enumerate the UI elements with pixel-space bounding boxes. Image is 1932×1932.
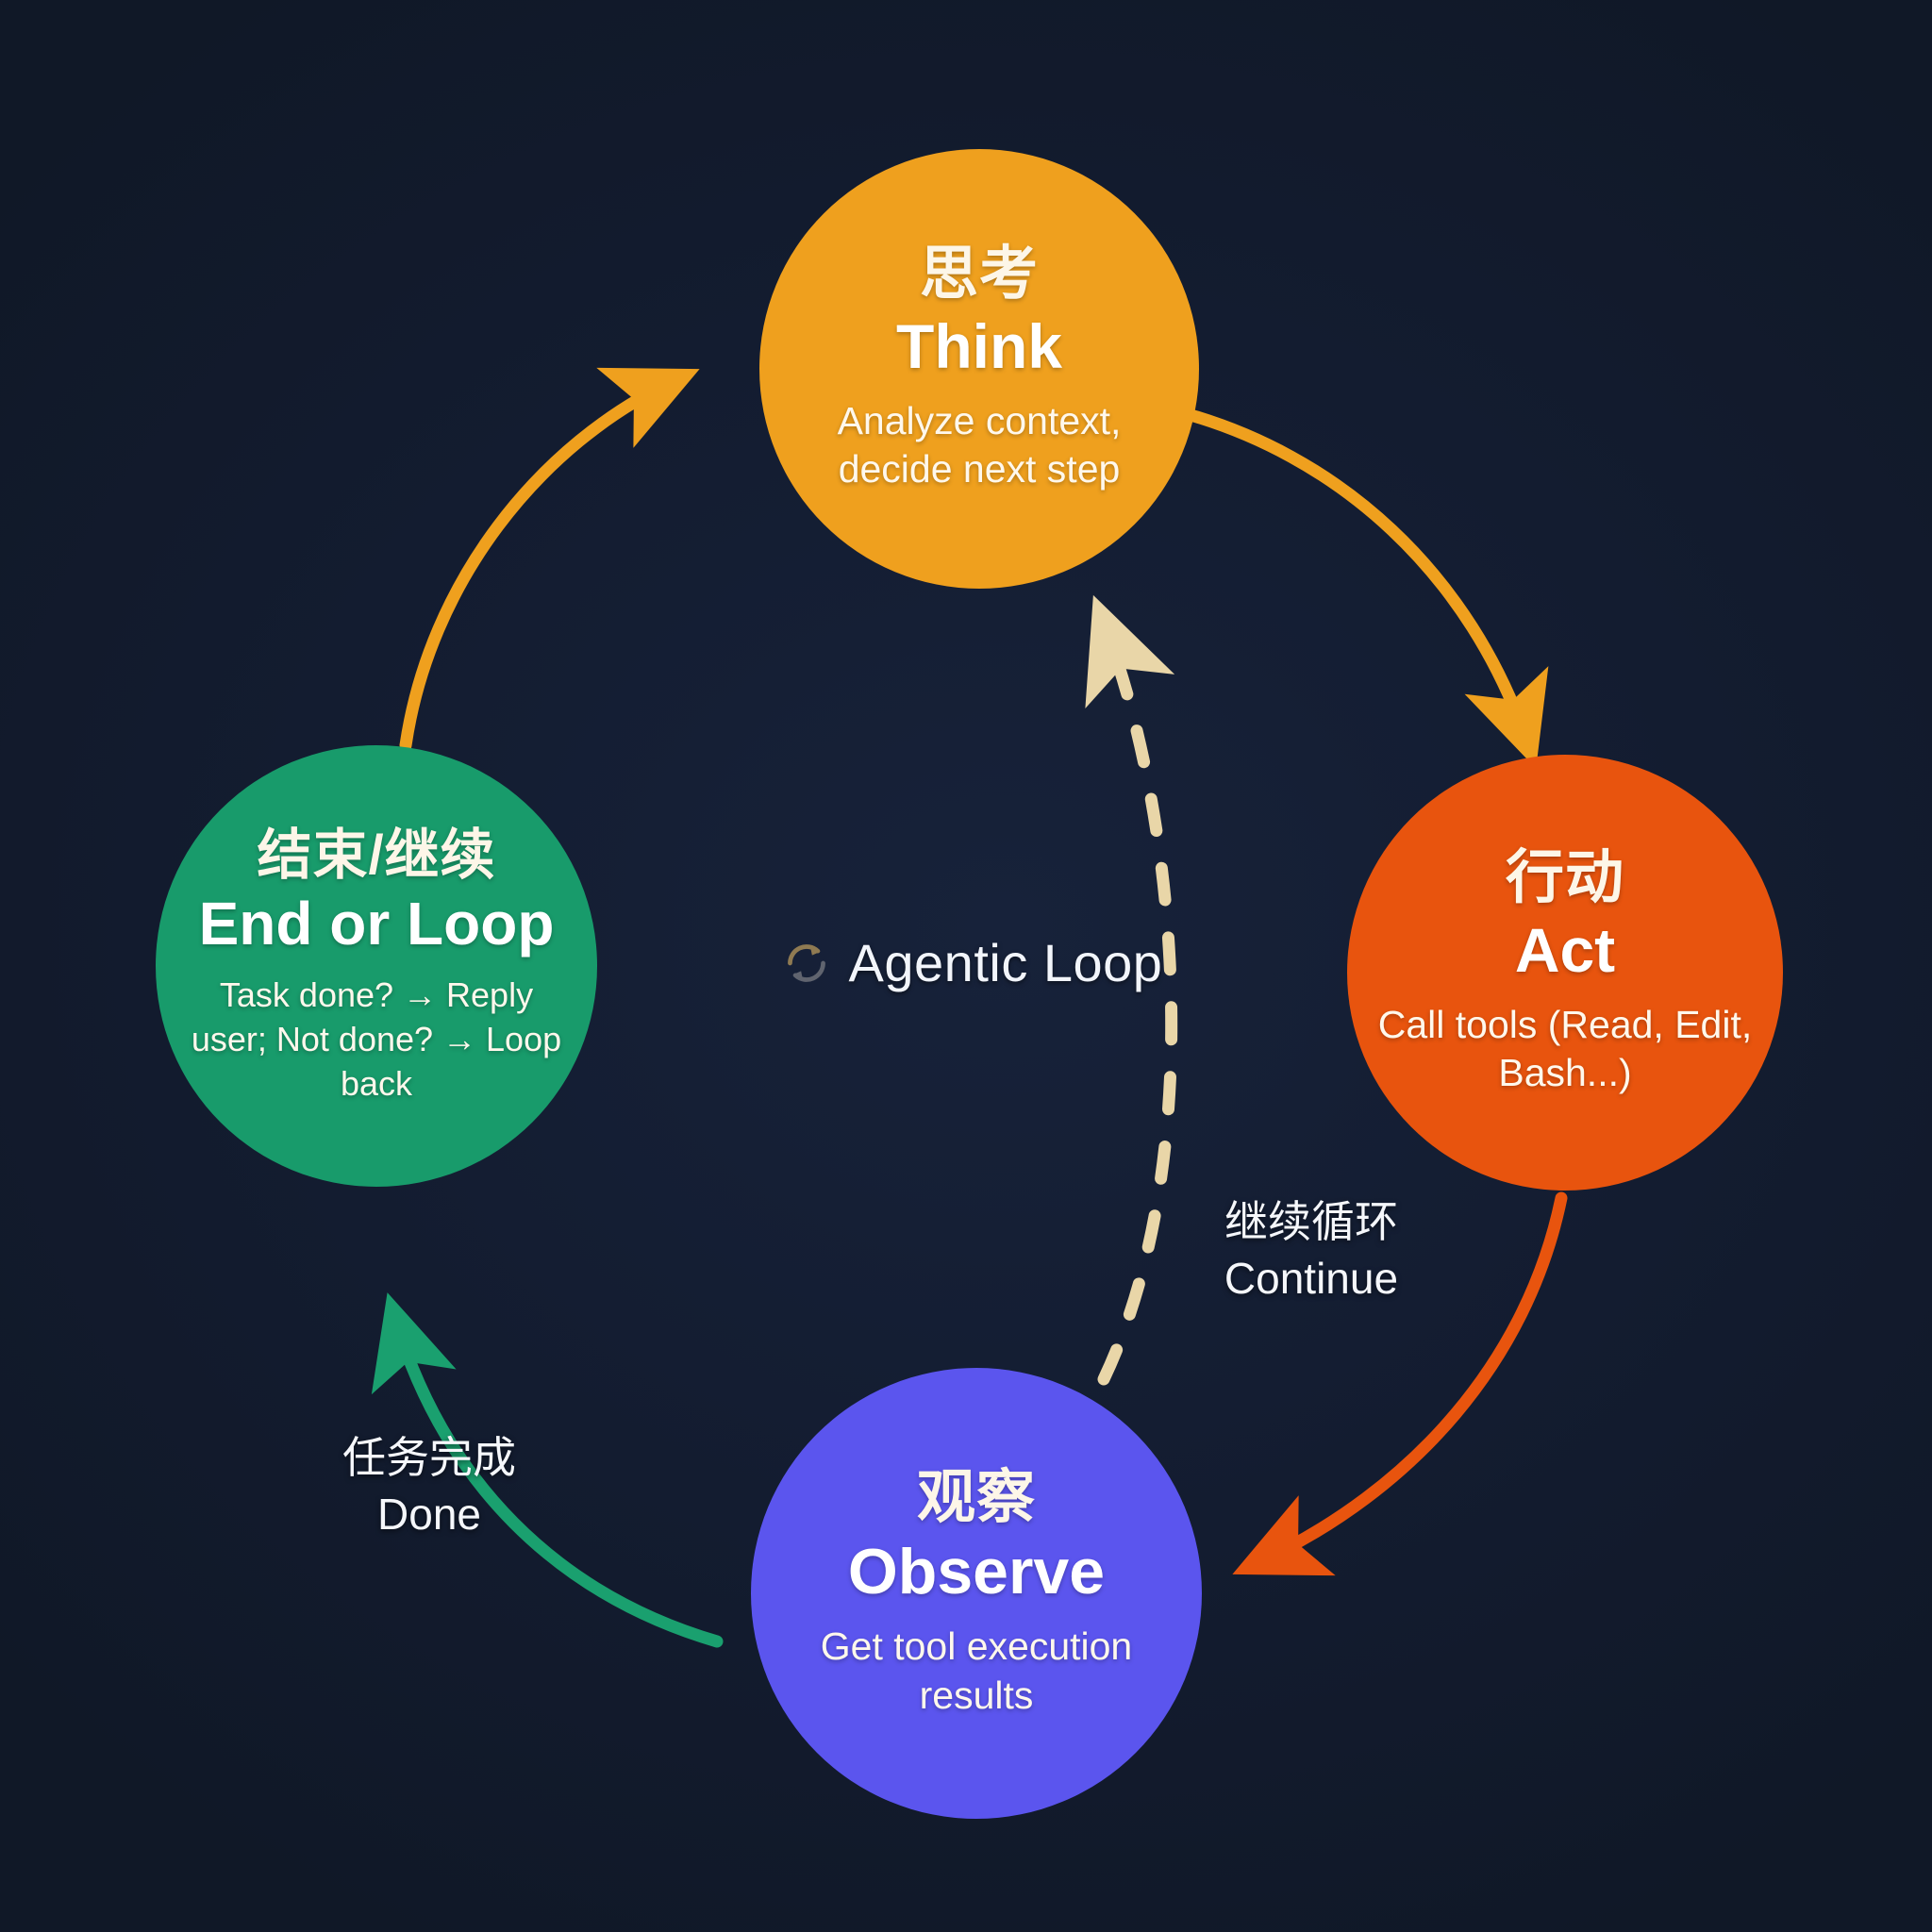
edge-label-continue: 继续循环 Continue bbox=[1132, 1196, 1491, 1305]
edge-label-done: 任务完成 Done bbox=[259, 1432, 599, 1541]
node-observe-desc: Get tool execution results bbox=[775, 1623, 1177, 1720]
center-loop-label: Agentic Loop bbox=[736, 932, 1207, 993]
node-end-desc: Task done? → Reply user; Not done? → Loo… bbox=[180, 974, 573, 1106]
node-observe[interactable]: 观察 Observe Get tool execution results bbox=[751, 1368, 1202, 1819]
loop-refresh-icon bbox=[781, 938, 832, 989]
edge-think-to-act bbox=[1174, 410, 1528, 745]
node-act[interactable]: 行动 Act Call tools (Read, Edit, Bash...) bbox=[1347, 755, 1783, 1191]
node-think-desc: Analyze context, decide next step bbox=[784, 397, 1174, 494]
edge-label-done-cn: 任务完成 bbox=[259, 1432, 599, 1483]
center-loop-text: Agentic Loop bbox=[849, 932, 1163, 993]
node-think[interactable]: 思考 Think Analyze context, decide next st… bbox=[759, 149, 1199, 589]
diagram-canvas: 思考 Think Analyze context, decide next st… bbox=[0, 0, 1932, 1932]
edge-label-done-en: Done bbox=[259, 1489, 599, 1540]
node-act-desc: Call tools (Read, Edit, Bash...) bbox=[1372, 1001, 1758, 1098]
node-observe-cn: 观察 bbox=[917, 1467, 1036, 1530]
node-think-cn: 思考 bbox=[920, 243, 1039, 307]
node-end-cn: 结束/继续 bbox=[257, 826, 495, 886]
node-end-en: End or Loop bbox=[199, 891, 555, 958]
node-act-en: Act bbox=[1515, 916, 1615, 986]
edge-label-continue-en: Continue bbox=[1132, 1253, 1491, 1304]
node-think-en: Think bbox=[896, 312, 1062, 382]
node-observe-en: Observe bbox=[848, 1536, 1105, 1607]
node-end-or-loop[interactable]: 结束/继续 End or Loop Task done? → Reply use… bbox=[156, 745, 597, 1187]
edge-label-continue-cn: 继续循环 bbox=[1132, 1196, 1491, 1247]
edge-end-to-think bbox=[406, 379, 677, 745]
node-act-cn: 行动 bbox=[1506, 847, 1624, 910]
